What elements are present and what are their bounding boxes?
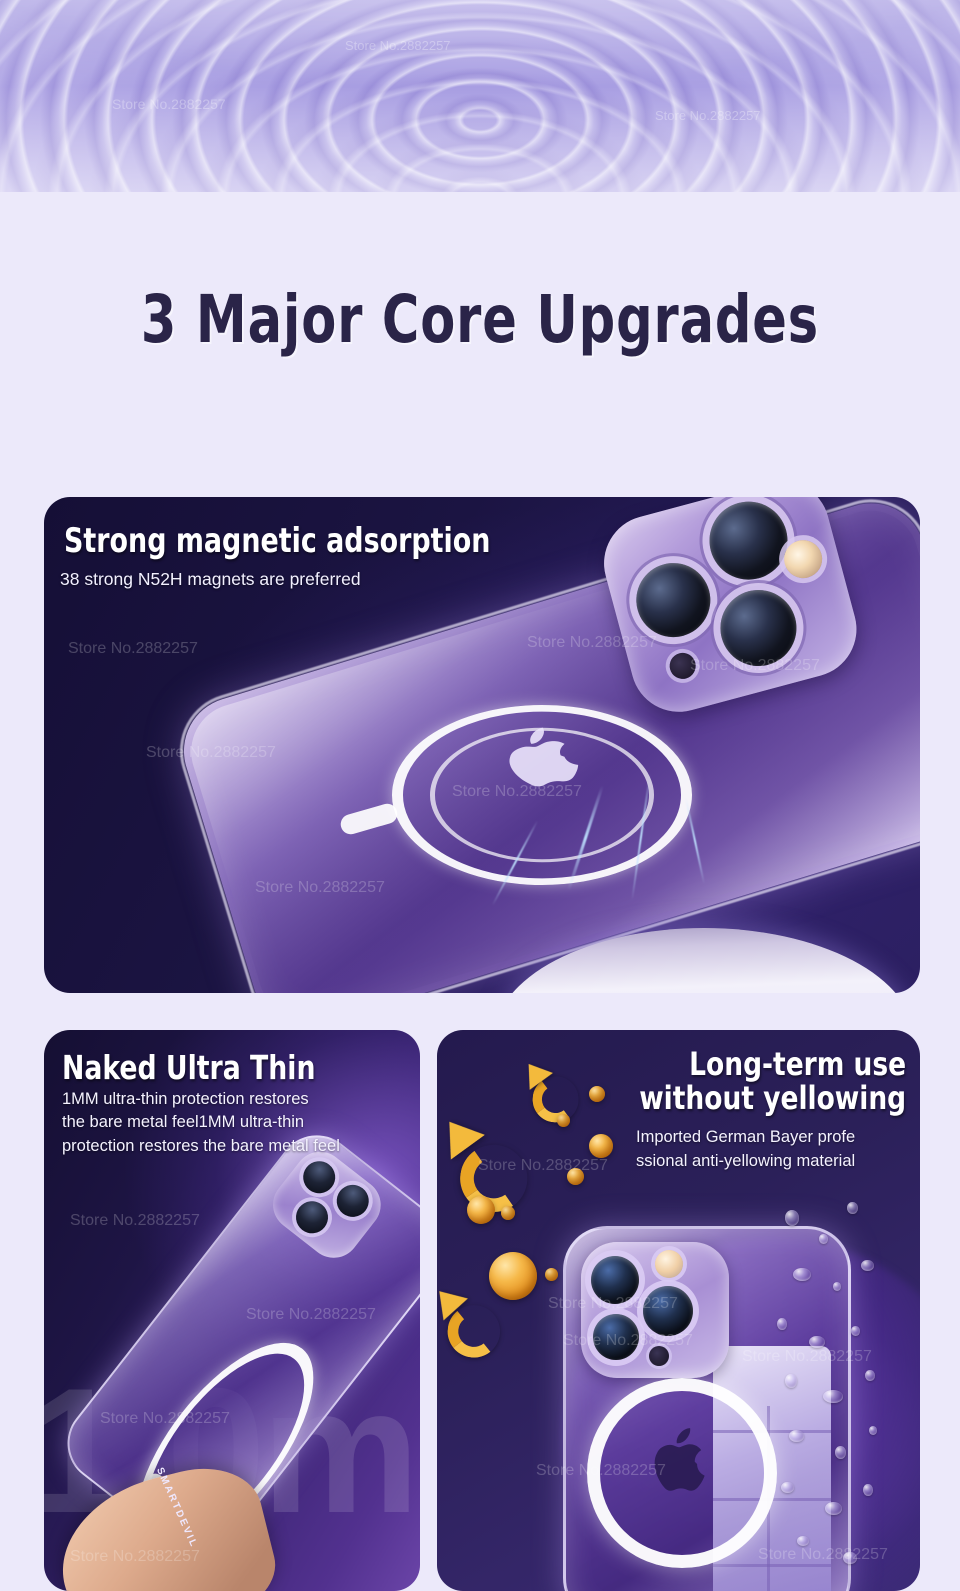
page-title: 3 Major Core Upgrades (67, 285, 893, 354)
banner-sheen-overlay (0, 0, 960, 192)
card3-phone-illustration (563, 1226, 863, 1591)
amber-bubble (545, 1268, 558, 1281)
camera-module-icon (581, 1242, 729, 1378)
card2-body-line: the bare metal feel1MM ultra-thin (62, 1111, 408, 1134)
camera-lens-icon (701, 497, 797, 588)
card3-headline-line: without yellowing (639, 1082, 906, 1116)
reflection-line (767, 1406, 770, 1591)
reflection-line (713, 1564, 831, 1567)
camera-lens-icon (591, 1256, 639, 1304)
card3-headline-line: Long-term use (639, 1048, 906, 1082)
camera-lens-icon (593, 1314, 639, 1360)
card1-subtitle: 38 strong N52H magnets are preferred (60, 569, 361, 590)
card3-headline: Long-term use without yellowing (616, 1048, 906, 1116)
window-reflection (713, 1346, 831, 1591)
card3-body-line: ssional anti-yellowing material (636, 1150, 906, 1174)
lidar-sensor-icon (667, 650, 699, 682)
lidar-sensor-icon (649, 1346, 669, 1366)
reflection-line (713, 1430, 831, 1433)
card2-body: 1MM ultra-thin protection restores the b… (62, 1088, 408, 1158)
camera-flash-icon (655, 1250, 683, 1278)
camera-lens-icon (628, 555, 719, 646)
camera-lens-icon (712, 581, 805, 674)
amber-bubble (589, 1086, 605, 1102)
amber-bubble (557, 1114, 570, 1127)
camera-lens-icon (290, 1195, 335, 1240)
camera-lens-icon (643, 1286, 693, 1336)
card3-body: Imported German Bayer profe ssional anti… (636, 1126, 906, 1174)
camera-lens-icon (330, 1178, 375, 1223)
amber-bubble (567, 1168, 584, 1185)
amber-bubble (467, 1196, 495, 1224)
feature-card-ultra-thin: 1.0mm Naked Ultra Thin 1MM ultra-thin pr… (44, 1030, 420, 1591)
page-title-wrap: 3 Major Core Upgrades (0, 285, 960, 354)
card2-headline: Naked Ultra Thin (62, 1048, 315, 1087)
amber-bubble (489, 1252, 537, 1300)
top-banner (0, 0, 960, 192)
feature-card-magnetic: Strong magnetic adsorption 38 strong N52… (44, 497, 920, 993)
feature-card-no-yellowing: Long-term use without yellowing Imported… (437, 1030, 920, 1591)
amber-bubble (501, 1206, 515, 1220)
camera-lens-icon (297, 1155, 342, 1200)
card2-body-line: 1MM ultra-thin protection restores (62, 1088, 408, 1111)
reflection-line (713, 1498, 831, 1501)
card1-headline: Strong magnetic adsorption (64, 521, 490, 561)
card3-body-line: Imported German Bayer profe (636, 1126, 906, 1150)
amber-bubble (589, 1134, 613, 1158)
card2-body-line: protection restores the bare metal feel (62, 1135, 408, 1158)
